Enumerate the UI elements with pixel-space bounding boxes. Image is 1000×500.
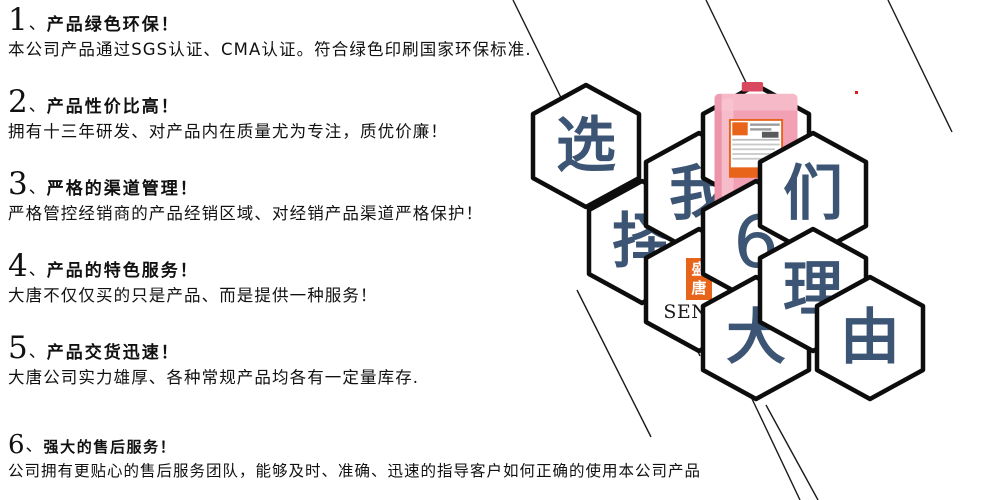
red-speck-artifact — [855, 91, 858, 94]
reason-title: 严格的渠道管理！ — [47, 179, 199, 199]
reason-heading: 1 、 产品绿色环保！ — [8, 2, 640, 36]
reason-body: 本公司产品通过SGS认证、CMA认证。符合绿色印刷国家环保标准. — [8, 39, 640, 60]
reason-separator: 、 — [29, 344, 46, 361]
reason-number: 4 — [8, 251, 28, 282]
reason-separator: 、 — [29, 262, 46, 279]
reason-title: 产品性价比高！ — [47, 97, 180, 117]
reason-number: 3 — [8, 169, 28, 200]
honeycomb-graphic: 选 择 我 盛 唐 SENTA — [500, 70, 1000, 500]
reason-number: 5 — [8, 333, 28, 364]
reason-title: 产品交货迅速！ — [47, 343, 180, 363]
hex-cell-you: 由 — [814, 274, 926, 402]
reason-title: 产品绿色环保！ — [47, 15, 180, 35]
reason-separator: 、 — [29, 16, 46, 33]
hex-label: 由 — [814, 274, 926, 402]
reason-title: 强大的售后服务！ — [44, 437, 177, 457]
reason-separator: 、 — [29, 180, 46, 197]
reason-item-1: 1 、 产品绿色环保！ 本公司产品通过SGS认证、CMA认证。符合绿色印刷国家环… — [8, 2, 640, 60]
poster-root: 1 、 产品绿色环保！ 本公司产品通过SGS认证、CMA认证。符合绿色印刷国家环… — [0, 0, 1000, 500]
reason-title: 产品的特色服务！ — [47, 261, 199, 281]
reason-separator: 、 — [29, 98, 46, 115]
reason-number: 6 — [8, 432, 25, 458]
reason-number: 1 — [8, 5, 28, 36]
reason-separator: 、 — [26, 438, 43, 455]
reason-number: 2 — [8, 87, 28, 118]
